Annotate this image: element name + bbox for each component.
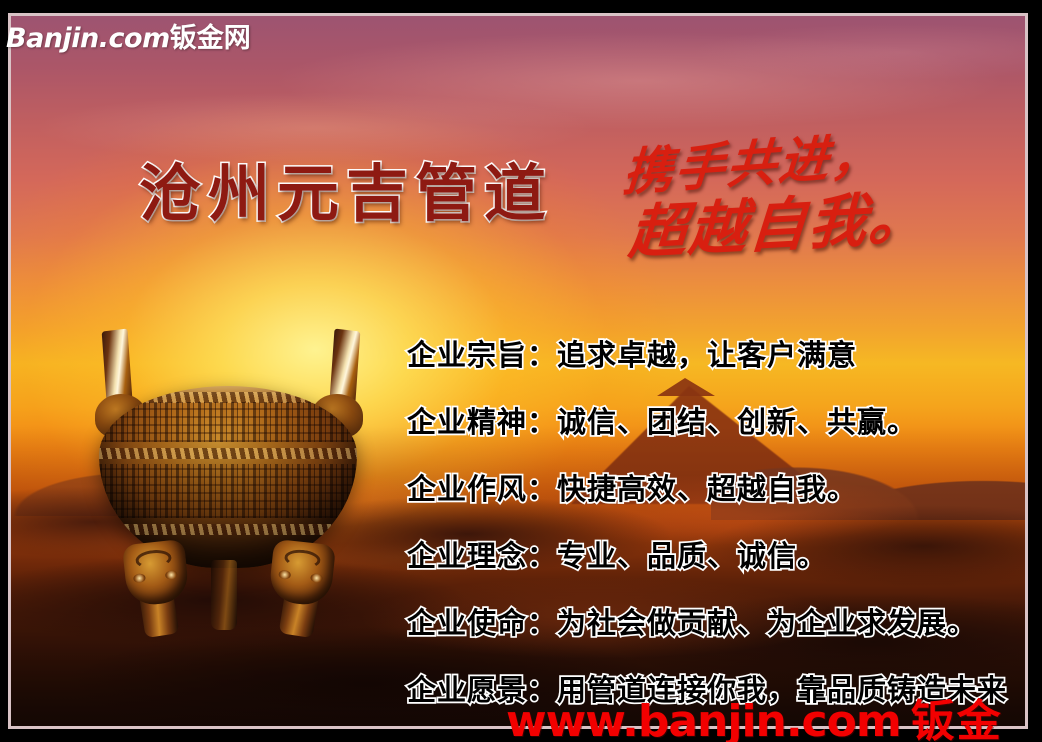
site-watermark: www.banjin.com钣金	[506, 685, 1003, 742]
calligraphy-slogan: 携手共进， 超越自我。	[615, 120, 975, 255]
slogan-line-2: 超越自我。	[626, 170, 932, 270]
ding-mask-eye-right-1	[278, 570, 291, 580]
bronze-ding-vessel-icon	[73, 316, 383, 636]
logo-chinese-text: 钣金网	[170, 23, 251, 54]
image-frame: 沧州元吉管道 携手共进， 超越自我。 企业宗旨：追求卓越，让客户满意 企业精神：…	[8, 13, 1028, 729]
ding-meander-band-1	[99, 402, 357, 442]
ding-rope-band-low	[99, 524, 357, 535]
ding-beast-mask-left	[122, 539, 190, 607]
ding-beast-mask-right	[268, 539, 336, 607]
value-line-concept: 企业理念：专业、品质、诚信。	[407, 535, 1025, 602]
ding-leg-center	[211, 560, 237, 630]
value-line-spirit: 企业精神：诚信、团结、创新、共赢。	[407, 401, 1025, 468]
watermark-url: www.banjin.com	[506, 696, 901, 742]
ding-meander-band-2	[99, 464, 357, 518]
ding-mask-eye-right-2	[310, 573, 323, 583]
value-line-style: 企业作风：快捷高效、超越自我。	[407, 468, 1025, 535]
company-title: 沧州元吉管道	[139, 143, 553, 233]
ding-mask-swirl-right	[284, 548, 322, 570]
corporate-values-list: 企业宗旨：追求卓越，让客户满意 企业精神：诚信、团结、创新、共赢。 企业作风：快…	[407, 334, 1025, 726]
sunset-scene: 沧州元吉管道 携手共进， 超越自我。 企业宗旨：追求卓越，让客户满意 企业精神：…	[11, 16, 1025, 726]
ding-mask-eye-left-2	[165, 570, 178, 580]
watermark-chinese: 钣金	[911, 696, 1003, 742]
banjin-logo[interactable]: Banjin.com钣金网	[0, 14, 257, 58]
logo-latin-text: Banjin.com	[6, 23, 170, 54]
value-line-purpose: 企业宗旨：追求卓越，让客户满意	[407, 334, 1025, 401]
ding-body	[99, 386, 357, 568]
ding-mask-eye-left-1	[133, 573, 146, 583]
poster-canvas: 沧州元吉管道 携手共进， 超越自我。 企业宗旨：追求卓越，让客户满意 企业精神：…	[0, 0, 1042, 742]
ding-rope-band-mid	[99, 448, 357, 459]
value-line-mission: 企业使命：为社会做贡献、为企业求发展。	[407, 602, 1025, 669]
ding-mask-swirl-left	[135, 548, 173, 570]
